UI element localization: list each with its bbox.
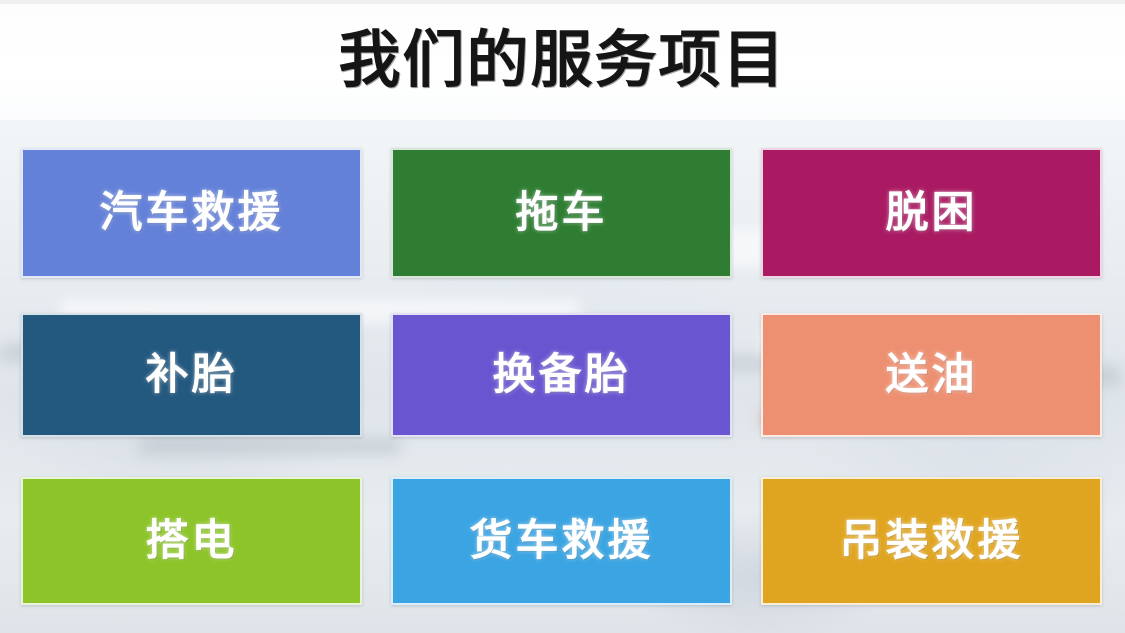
service-tile-label: 吊装救援 <box>840 517 1024 565</box>
service-tile-label: 脱困 <box>886 189 978 237</box>
service-tile-spare-tire-change[interactable]: 换备胎 <box>391 313 732 437</box>
service-tile-tire-repair[interactable]: 补胎 <box>21 313 362 437</box>
service-tile-label: 汽车救援 <box>100 189 284 237</box>
top-divider <box>0 0 1125 4</box>
service-menu-poster: 我们的服务项目 汽车救援 拖车 脱困 补胎 换备胎 送油 搭电 货车救援 吊装救… <box>0 0 1125 633</box>
service-tile-extrication[interactable]: 脱困 <box>761 148 1102 278</box>
service-tile-label: 送油 <box>886 351 978 399</box>
service-tile-car-rescue[interactable]: 汽车救援 <box>21 148 362 278</box>
service-tile-crane-rescue[interactable]: 吊装救援 <box>761 477 1102 605</box>
service-tile-label: 搭电 <box>146 517 238 565</box>
service-tile-label: 货车救援 <box>470 517 654 565</box>
service-tile-label: 补胎 <box>146 351 238 399</box>
service-tile-tow-truck[interactable]: 拖车 <box>391 148 732 278</box>
service-tile-label: 拖车 <box>516 189 608 237</box>
service-tile-jump-start[interactable]: 搭电 <box>21 477 362 605</box>
service-tile-label: 换备胎 <box>493 351 631 399</box>
page-title: 我们的服务项目 <box>0 22 1125 100</box>
service-tile-fuel-delivery[interactable]: 送油 <box>761 313 1102 437</box>
service-grid: 汽车救援 拖车 脱困 补胎 换备胎 送油 搭电 货车救援 吊装救援 <box>21 148 1102 605</box>
service-tile-freight-truck-rescue[interactable]: 货车救援 <box>391 477 732 605</box>
